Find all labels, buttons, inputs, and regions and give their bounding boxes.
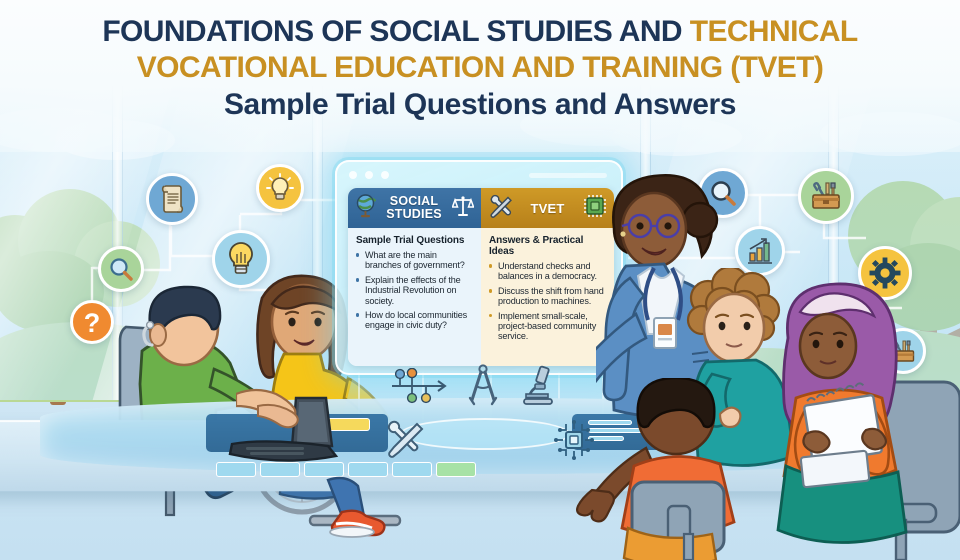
title-line3-subtitle: Sample Trial Questions and Answers [224,88,736,121]
question-mark-icon: ? [70,300,114,344]
list-item: What are the main branches of government… [356,250,473,271]
lightbulb-idea-icon [256,164,304,212]
column-social-studies: SOCIAL STUDIES Sample Trial Questi [348,188,481,366]
social-studies-bullets: What are the main branches of government… [356,250,473,331]
social-studies-body: Sample Trial Questions What are the main… [348,228,481,366]
list-item: Discuss the shift from hand production t… [489,286,606,307]
globe-icon [355,194,376,223]
window-dot-minimize[interactable] [365,171,373,179]
column-tvet: TVET [481,188,614,366]
hologram-screen[interactable]: SOCIAL STUDIES Sample Trial Questi [335,160,623,375]
title-line2: VOCATIONAL EDUCATION AND TRAINING (TVET) [137,51,824,84]
window-dot-close[interactable] [349,171,357,179]
scales-of-justice-icon [452,195,474,222]
wheelchair-footrest [300,460,460,560]
tvet-header[interactable]: TVET [481,188,614,228]
window-dot-maximize[interactable] [381,171,389,179]
title-line1-gold: TECHNICAL [690,15,858,48]
list-item: Implement small-scale, project-based com… [489,311,606,342]
student-hijab-orange [770,276,960,560]
tvet-body: Answers & Practical Ideas Understand che… [481,228,614,366]
svg-text:?: ? [84,308,101,337]
content-card: SOCIAL STUDIES Sample Trial Questi [348,188,614,366]
microscope-icon [520,364,558,411]
list-item: Explain the effects of the Industrial Re… [356,275,473,306]
poster-canvas: ? [0,0,960,560]
molecule-diagram-icon [388,368,448,409]
title-line1-navy: FOUNDATIONS OF SOCIAL STUDIES AND [102,15,689,48]
list-item: How do local communities engage in civic… [356,310,473,331]
list-item: Understand checks and balances in a demo… [489,261,606,282]
scroll-document-icon [146,173,198,225]
page-title: FOUNDATIONS OF SOCIAL STUDIES AND TECHNI… [0,14,960,124]
typing-hands [236,384,366,436]
compass-divider-icon [466,364,500,411]
tvet-section-title: Answers & Practical Ideas [489,235,606,257]
tools-crossed-icon [384,420,424,463]
social-studies-header[interactable]: SOCIAL STUDIES [348,188,481,228]
window-controls[interactable] [349,171,389,179]
wrench-screwdriver-icon [488,194,512,223]
tvet-label: TVET [517,202,578,215]
student-orange-shirt [572,378,802,560]
desk-center-glow [400,418,570,450]
tvet-bullets: Understand checks and balances in a demo… [489,261,606,342]
social-studies-label: SOCIAL STUDIES [381,195,447,221]
social-studies-section-title: Sample Trial Questions [356,235,473,246]
